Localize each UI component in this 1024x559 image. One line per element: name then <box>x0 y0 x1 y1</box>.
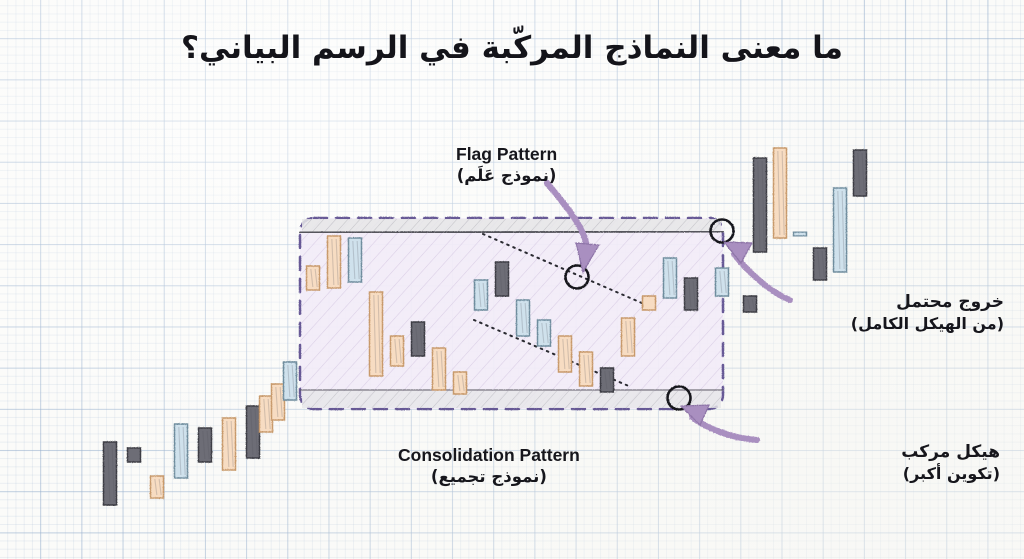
candle <box>284 356 297 420</box>
candle <box>854 104 867 214</box>
candle <box>247 406 260 500</box>
candle <box>151 456 164 520</box>
consolidation-box <box>300 218 723 409</box>
upper-resistance-band <box>300 219 723 233</box>
compound-structure-arrow <box>681 405 757 440</box>
candle <box>370 284 383 390</box>
sketch-canvas: ما معنى النماذج المركّبة في الرسم البيان… <box>0 0 1024 559</box>
candle <box>814 226 827 296</box>
candle <box>223 418 236 520</box>
annotation-consolidation-line2: (نموذج تجميع) <box>398 466 580 487</box>
annotation-exit-line1: خروج محتمل <box>851 292 1004 314</box>
annotation-flag-line2: (نموذج عَلَم) <box>456 165 557 186</box>
candle <box>104 424 117 518</box>
lower-support-band <box>301 390 722 408</box>
candle <box>199 408 212 488</box>
annotation-consolidation-line1: Consolidation Pattern <box>398 444 580 466</box>
page-title: ما معنى النماذج المركّبة في الرسم البيان… <box>0 30 1024 66</box>
candle <box>260 396 273 448</box>
candle <box>834 134 847 300</box>
candle <box>744 290 757 336</box>
candle <box>754 118 767 288</box>
annotation-structure-line2: (تكوين أكبر) <box>901 464 1000 484</box>
candle <box>175 420 188 492</box>
annotation-flag-pattern: Flag Pattern (نموذج عَلَم) <box>456 143 557 187</box>
annotation-exit-line2: (من الهيكل الكامل) <box>851 314 1004 334</box>
candle <box>774 114 787 252</box>
annotation-potential-exit: خروج محتمل (من الهيكل الكامل) <box>851 292 1004 334</box>
candle <box>272 378 285 440</box>
candle <box>794 208 807 288</box>
annotation-consolidation-pattern: Consolidation Pattern (نموذج تجميع) <box>398 444 580 488</box>
candle <box>128 435 141 500</box>
annotation-flag-line1: Flag Pattern <box>456 143 557 165</box>
annotation-compound-structure: هيكل مركب (تكوين أكبر) <box>901 442 1000 484</box>
annotation-structure-line1: هيكل مركب <box>901 442 1000 464</box>
